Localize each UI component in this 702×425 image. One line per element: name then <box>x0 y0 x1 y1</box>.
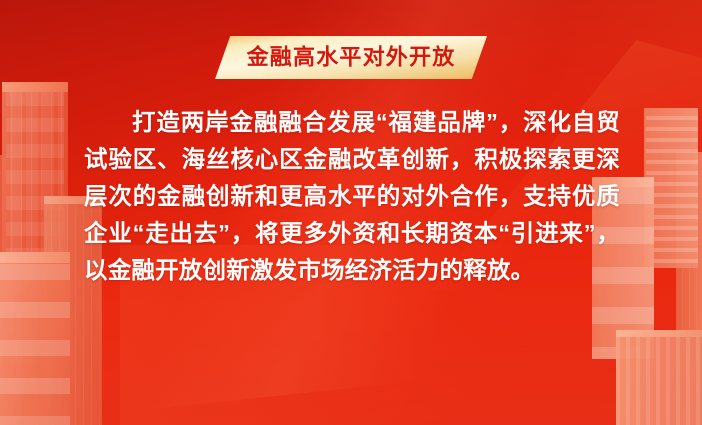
building-roof <box>0 252 70 263</box>
building-roof <box>2 82 68 92</box>
building-face <box>616 330 702 425</box>
building-left-front-banded-slab <box>0 252 70 425</box>
building-horizontal-bands <box>0 264 70 425</box>
body-paragraph: 打造两岸金融融合发展“福建品牌”，深化自贸试验区、海丝核心区金融改革创新，积极探… <box>84 104 620 289</box>
poster-canvas: 金融高水平对外开放 打造两岸金融融合发展“福建品牌”，深化自贸试验区、海丝核心区… <box>0 0 702 425</box>
title-banner: 金融高水平对外开放 <box>215 36 487 79</box>
title-banner-text: 金融高水平对外开放 <box>247 46 456 68</box>
building-roof <box>616 330 702 337</box>
building-right-bottom-striped-block <box>616 330 702 425</box>
